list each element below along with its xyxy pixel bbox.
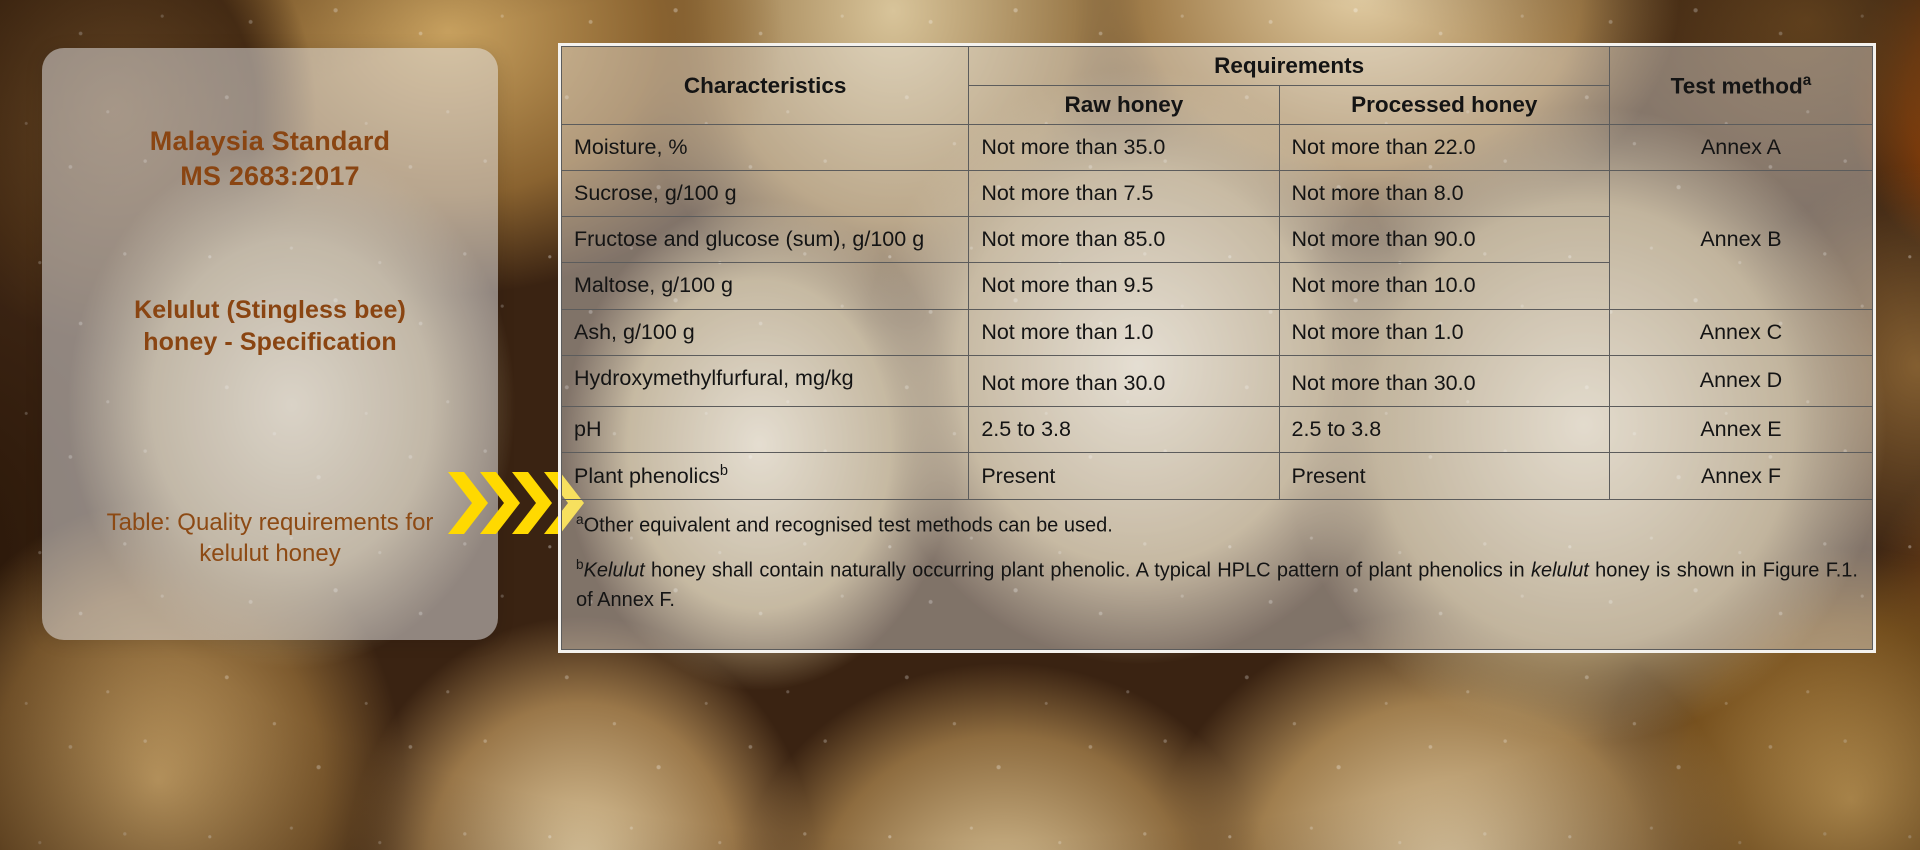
cell-characteristic: pH	[562, 406, 969, 452]
cell-characteristic: Maltose, g/100 g	[562, 263, 969, 309]
footnote-marker-a: a	[1803, 72, 1812, 89]
cell-raw-honey: Not more than 85.0	[969, 217, 1279, 263]
standard-title-line-2: MS 2683:2017	[42, 159, 498, 194]
cell-raw-honey: Not more than 7.5	[969, 171, 1279, 217]
quality-requirements-table: Characteristics Requirements Test method…	[561, 46, 1873, 650]
cell-test-method: Annex C	[1609, 309, 1872, 355]
column-header-raw-honey: Raw honey	[969, 86, 1279, 125]
cell-processed-honey: Not more than 22.0	[1279, 125, 1609, 171]
cell-processed-honey: Not more than 1.0	[1279, 309, 1609, 355]
table-caption: Table: Quality requirements for kelulut …	[42, 508, 498, 569]
cell-processed-honey: 2.5 to 3.8	[1279, 406, 1609, 452]
cell-raw-honey: 2.5 to 3.8	[969, 406, 1279, 452]
cell-test-method: Annex D	[1609, 355, 1872, 406]
footnote-b-text-1: honey shall contain naturally occurring …	[645, 560, 1531, 582]
cell-raw-honey: Not more than 35.0	[969, 125, 1279, 171]
cell-characteristic: Plant phenolicsb	[562, 452, 969, 500]
table-row: Ash, g/100 g Not more than 1.0 Not more …	[562, 309, 1873, 355]
column-header-test-method-label: Test method	[1671, 73, 1803, 98]
cell-raw-honey: Not more than 1.0	[969, 309, 1279, 355]
cell-test-method: Annex A	[1609, 125, 1872, 171]
column-header-test-method: Test methoda	[1609, 47, 1872, 125]
table-row: Moisture, % Not more than 35.0 Not more …	[562, 125, 1873, 171]
footnote-b: bKelulut honey shall contain naturally o…	[576, 555, 1858, 615]
footnote-marker-a: a	[576, 512, 584, 527]
standard-title-line-1: Malaysia Standard	[42, 124, 498, 159]
table-row: Plant phenolicsb Present Present Annex F	[562, 452, 1873, 500]
cell-characteristic: Hydroxymethylfurfural, mg/kg	[562, 355, 969, 406]
cell-raw-honey: Present	[969, 452, 1279, 500]
cell-characteristic: Moisture, %	[562, 125, 969, 171]
cell-raw-honey: Not more than 30.0	[969, 355, 1279, 406]
standard-title: Malaysia Standard MS 2683:2017	[42, 124, 498, 193]
cell-processed-honey: Not more than 30.0	[1279, 355, 1609, 406]
chevron-right-icon	[448, 472, 488, 534]
footnote-a: aOther equivalent and recognised test me…	[576, 510, 1858, 541]
cell-test-method: Annex B	[1609, 171, 1872, 309]
cell-processed-honey: Present	[1279, 452, 1609, 500]
table-row: Sucrose, g/100 g Not more than 7.5 Not m…	[562, 171, 1873, 217]
table-header-row-1: Characteristics Requirements Test method…	[562, 47, 1873, 86]
cell-processed-honey: Not more than 10.0	[1279, 263, 1609, 309]
table-row: pH 2.5 to 3.8 2.5 to 3.8 Annex E	[562, 406, 1873, 452]
cell-raw-honey: Not more than 9.5	[969, 263, 1279, 309]
cell-characteristic: Ash, g/100 g	[562, 309, 969, 355]
column-header-characteristics: Characteristics	[562, 47, 969, 125]
cell-characteristic: Sucrose, g/100 g	[562, 171, 969, 217]
footnote-b-text-kelulut: Kelulut	[584, 560, 645, 582]
specification-title-line-1: Kelulut (Stingless bee)	[66, 294, 474, 326]
footnote-b-text-kelulut-2: kelulut	[1531, 560, 1589, 582]
cell-characteristic: Fructose and glucose (sum), g/100 g	[562, 217, 969, 263]
cell-test-method: Annex F	[1609, 452, 1872, 500]
table-caption-line-2: kelulut honey	[60, 539, 480, 570]
table-footnotes: aOther equivalent and recognised test me…	[562, 500, 1873, 650]
quality-requirements-table-panel: Characteristics Requirements Test method…	[558, 43, 1876, 653]
cell-processed-honey: Not more than 90.0	[1279, 217, 1609, 263]
specification-title: Kelulut (Stingless bee) honey - Specific…	[42, 294, 498, 358]
specification-title-line-2: honey - Specification	[66, 326, 474, 358]
info-card: Malaysia Standard MS 2683:2017 Kelulut (…	[42, 48, 498, 640]
table-caption-line-1: Table: Quality requirements for	[60, 508, 480, 539]
cell-processed-honey: Not more than 8.0	[1279, 171, 1609, 217]
table-footnotes-row: aOther equivalent and recognised test me…	[562, 500, 1873, 650]
cell-test-method: Annex E	[1609, 406, 1872, 452]
column-header-requirements: Requirements	[969, 47, 1610, 86]
table-body: Moisture, % Not more than 35.0 Not more …	[562, 125, 1873, 650]
cell-characteristic-label: Plant phenolics	[574, 464, 720, 488]
table-row: Hydroxymethylfurfural, mg/kg Not more th…	[562, 355, 1873, 406]
column-header-processed-honey: Processed honey	[1279, 86, 1609, 125]
footnote-a-text: Other equivalent and recognised test met…	[584, 515, 1113, 537]
table-header: Characteristics Requirements Test method…	[562, 47, 1873, 125]
footnote-marker-b: b	[576, 557, 584, 572]
footnote-marker-b: b	[720, 463, 728, 479]
